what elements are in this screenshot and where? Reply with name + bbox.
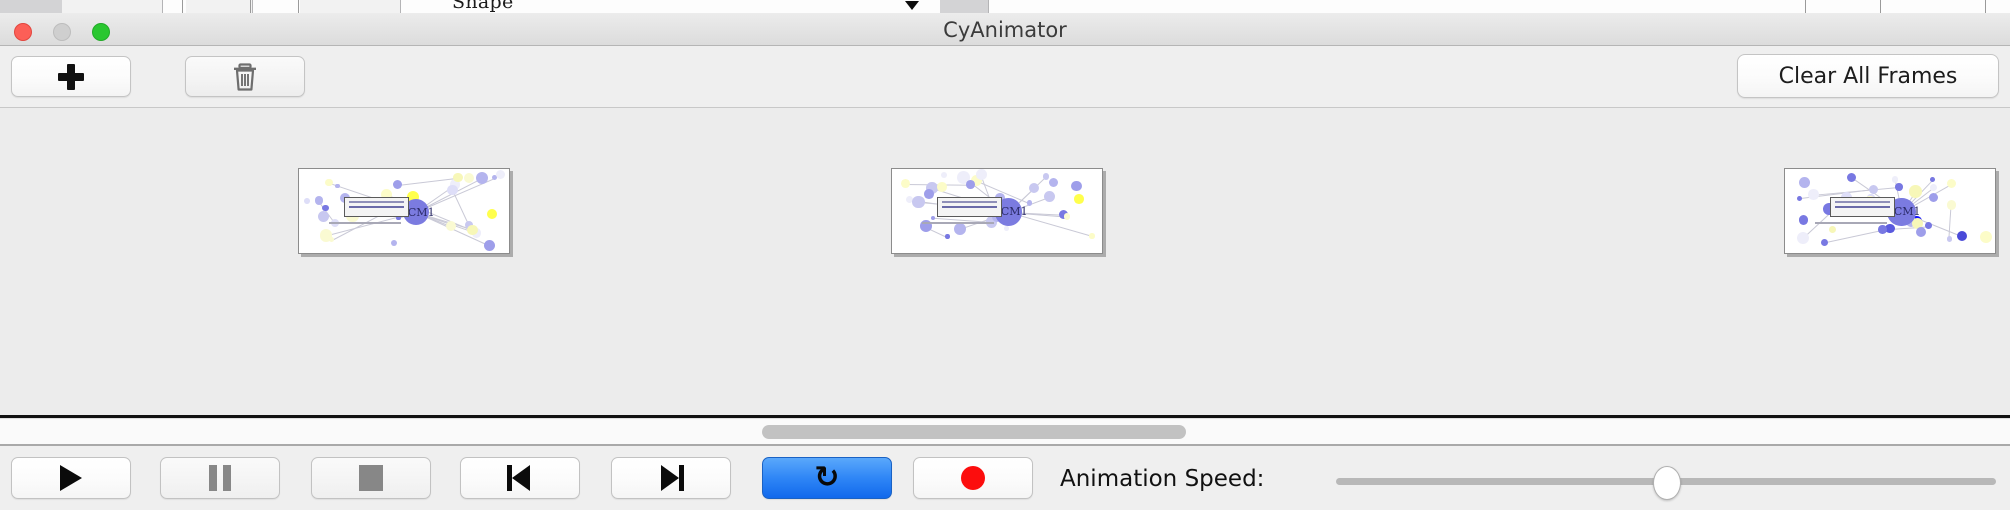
animation-speed-label: Animation Speed: — [1060, 466, 1264, 492]
graph-node — [329, 237, 334, 242]
stop-icon — [359, 465, 383, 491]
graph-annotation-callout — [344, 197, 410, 216]
graph-caption-text — [329, 222, 401, 224]
background-window-strip: Shape — [0, 0, 2010, 14]
graph-node — [496, 170, 505, 179]
graph-node — [1878, 225, 1886, 233]
graph-node — [976, 169, 987, 180]
delete-frame-button[interactable] — [185, 56, 305, 97]
graph-node — [467, 225, 478, 236]
graph-node — [1821, 239, 1828, 246]
play-icon — [60, 465, 82, 491]
graph-node — [1799, 177, 1810, 188]
background-divider — [250, 0, 251, 13]
graph-node — [931, 216, 936, 221]
loop-icon: ↻ — [814, 463, 839, 493]
graph-node — [1043, 173, 1050, 180]
graph-node — [304, 198, 310, 204]
skip-previous-button[interactable] — [460, 457, 580, 499]
plus-icon — [58, 64, 84, 90]
graph-node — [315, 196, 323, 204]
graph-node — [941, 172, 947, 178]
timeline-frame-thumbnail[interactable]: MCM1 — [298, 168, 510, 254]
network-graph-thumbnail: MCM1 — [892, 169, 1102, 253]
stop-button[interactable] — [311, 457, 431, 499]
background-tab — [62, 0, 163, 13]
graph-node — [1797, 196, 1803, 202]
graph-node — [954, 223, 966, 235]
background-divider — [1985, 0, 1986, 13]
graph-node — [1957, 231, 1967, 241]
background-tab — [0, 0, 63, 13]
background-tab — [186, 0, 253, 13]
background-tab — [300, 0, 401, 13]
timeline-frame-thumbnail[interactable]: MCM1 — [1784, 168, 1996, 254]
graph-node — [1089, 233, 1094, 238]
horizontal-scrollbar[interactable] — [0, 418, 2010, 446]
graph-node — [1049, 178, 1058, 187]
background-divider — [182, 0, 183, 13]
graph-node — [1929, 193, 1938, 202]
graph-node — [1916, 227, 1926, 237]
graph-node — [1074, 194, 1084, 204]
graph-node — [1044, 191, 1055, 202]
network-graph-thumbnail: MCM1 — [1785, 169, 1995, 253]
graph-node — [1930, 177, 1935, 182]
background-window-label: Shape — [452, 0, 514, 13]
cyanimator-window: Shape CyAnimator Clear All Frames MC — [0, 0, 2010, 510]
graph-node — [1947, 179, 1956, 188]
skip-next-icon — [658, 465, 684, 491]
graph-node — [453, 173, 462, 182]
graph-node — [391, 240, 397, 246]
graph-node — [318, 211, 329, 222]
graph-node — [1869, 185, 1879, 195]
graph-node — [912, 196, 924, 208]
slider-thumb[interactable] — [1653, 466, 1681, 500]
scrollbar-thumb[interactable] — [762, 425, 1186, 439]
graph-node — [1829, 226, 1836, 233]
toolbar: Clear All Frames — [0, 46, 2010, 108]
graph-caption-text — [1815, 222, 1887, 224]
animation-speed-slider[interactable] — [1336, 478, 1996, 479]
playback-controls: ↻ Animation Speed: — [0, 446, 2010, 510]
graph-node — [1892, 176, 1898, 182]
graph-node — [1947, 236, 1953, 242]
pause-button[interactable] — [160, 457, 280, 499]
graph-annotation-callout — [1830, 197, 1896, 216]
background-tab — [940, 0, 989, 13]
background-divider — [1805, 0, 1806, 13]
graph-node — [1980, 231, 1992, 243]
record-button[interactable] — [913, 457, 1033, 499]
clear-all-frames-button[interactable]: Clear All Frames — [1737, 54, 1999, 98]
trash-icon — [231, 62, 259, 92]
pause-icon — [209, 465, 231, 491]
graph-node — [1004, 226, 1009, 231]
graph-node — [393, 180, 402, 189]
background-divider — [1880, 0, 1881, 13]
graph-edge — [1949, 205, 1952, 239]
graph-node — [945, 234, 949, 238]
add-frame-button[interactable] — [11, 56, 131, 97]
graph-node — [1895, 183, 1902, 190]
graph-node — [484, 240, 495, 251]
graph-node — [1029, 183, 1039, 193]
skip-previous-icon — [507, 465, 533, 491]
record-icon — [961, 466, 985, 490]
graph-node — [487, 209, 497, 219]
graph-node — [1808, 189, 1818, 199]
graph-node — [335, 184, 340, 189]
window-title: CyAnimator — [0, 18, 2010, 42]
graph-caption-text — [922, 222, 994, 224]
network-graph-thumbnail: MCM1 — [299, 169, 509, 253]
timeline-panel[interactable]: MCM1MCM1MCM1 12131415161718 Seconds — [0, 108, 2010, 418]
graph-node — [901, 179, 910, 188]
graph-node — [1064, 213, 1071, 220]
graph-node — [1925, 222, 1932, 229]
graph-node — [1071, 181, 1082, 192]
graph-node — [1799, 215, 1809, 225]
play-button[interactable] — [11, 457, 131, 499]
graph-node — [1797, 232, 1809, 244]
title-bar[interactable]: CyAnimator — [0, 13, 2010, 46]
graph-node — [1930, 184, 1937, 191]
graph-node — [1909, 185, 1922, 198]
graph-node — [447, 185, 457, 195]
graph-node — [1847, 173, 1856, 182]
graph-annotation-callout — [937, 197, 1003, 216]
graph-edge — [1814, 187, 1900, 196]
background-divider — [298, 0, 299, 13]
graph-node — [1947, 200, 1957, 210]
loop-button[interactable]: ↻ — [762, 457, 892, 499]
graph-node — [446, 221, 456, 231]
graph-node — [937, 182, 946, 191]
skip-next-button[interactable] — [611, 457, 731, 499]
timeline-frame-thumbnail[interactable]: MCM1 — [891, 168, 1103, 254]
graph-node — [924, 189, 934, 199]
graph-node — [966, 180, 975, 189]
clear-all-frames-label: Clear All Frames — [1779, 64, 1958, 89]
background-caret-icon — [905, 1, 919, 10]
graph-node — [325, 179, 332, 186]
